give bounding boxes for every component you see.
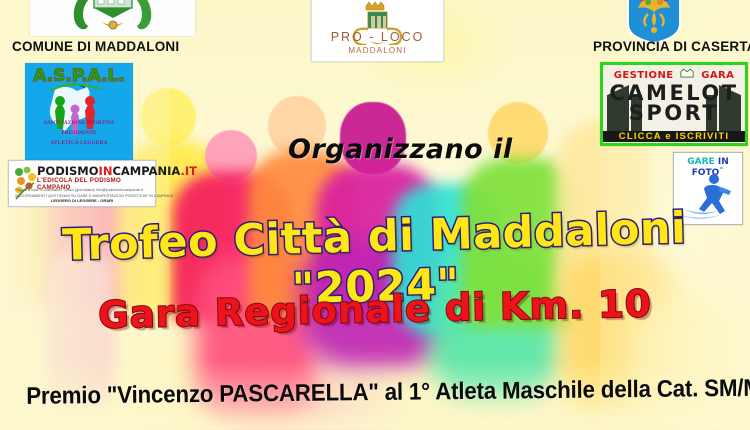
aspal-logo: A.S.P.A.L. ASSOCIAZIONE SPORTIVA PRESIDE… <box>25 63 133 160</box>
camelot-gestione-label: GESTIONE <box>614 70 674 81</box>
camelot-name-line2: SPORT <box>603 101 745 125</box>
podismo-brand-tld: .IT <box>181 164 198 178</box>
podismo-brand-left: PODISMO <box>37 164 99 178</box>
podismo-small-3: LEGGERO DI LEGGERE - ORARI <box>9 198 155 203</box>
maddaloni-coat-of-arms <box>30 0 195 36</box>
aspal-line2: PRESIDENTE <box>25 130 133 136</box>
podismo-brand: PODISMOINCAMPANIA.IT <box>37 164 197 178</box>
comune-caption: COMUNE DI MADDALONI <box>12 39 179 54</box>
podismo-small-1: Pagina a cura di Gianfranco Sasso (giorn… <box>15 188 143 192</box>
provincia-caption: PROVINCIA DI CASERTA <box>593 39 750 54</box>
camelot-gara-label: GARA <box>701 70 734 81</box>
aspal-line3: ATLETICA LEGGERA <box>25 140 133 146</box>
podismo-brand-right: CAMPANIA <box>112 164 180 178</box>
podismo-brand-mid: IN <box>99 164 113 178</box>
camelot-crown-icon <box>680 68 694 79</box>
proloco-logo: PRO - LOCO MADDALONI <box>311 0 444 62</box>
camelot-cta[interactable]: CLICCA e ISCRIVITI <box>603 131 745 142</box>
podismoincampania-banner[interactable]: PODISMOINCAMPANIA.IT L'EDICOLA DEL PODIS… <box>8 160 156 207</box>
provincia-caserta-shield-icon <box>624 0 684 44</box>
proloco-line1: PRO - LOCO <box>312 30 443 44</box>
camelot-sport-banner[interactable]: GESTIONE GARA CAMELOT SPORT CLICCA e ISC… <box>600 62 748 146</box>
comune-crest-panel <box>30 0 195 36</box>
aspal-line1: ASSOCIAZIONE SPORTIVA <box>25 120 133 126</box>
event-poster: COMUNE DI MADDALONI A.S.P.A.L. ASSOCIAZI… <box>0 0 750 430</box>
proloco-line2: MADDALONI <box>312 46 443 55</box>
gare-in-foto-word1: GARE <box>687 157 714 167</box>
camelot-top-text: GESTIONE GARA <box>603 68 745 81</box>
intro-text: Organizzano il <box>288 134 513 165</box>
